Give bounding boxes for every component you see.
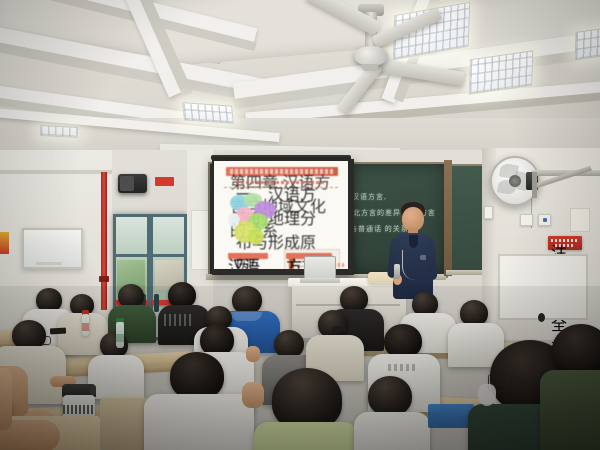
student-head — [272, 368, 342, 430]
student-head — [552, 324, 600, 376]
student-torso — [88, 355, 144, 399]
fluorescent-panel-3 — [575, 28, 600, 61]
fan-hub-cap — [362, 64, 378, 71]
student-hand — [242, 382, 264, 408]
fan-motor-hub — [354, 46, 388, 66]
outlet-indicator — [543, 218, 547, 222]
chalk-text-line-1: 汉语方言, — [352, 192, 387, 202]
slide-left-caption: 汉语方言分布图 — [228, 253, 268, 259]
blackboard-right-panel — [448, 164, 486, 274]
door-rail — [113, 254, 187, 257]
phone[interactable] — [50, 328, 66, 335]
wall-poster — [0, 232, 9, 254]
student-torso — [254, 422, 358, 450]
bottle-label — [82, 323, 89, 331]
speaker-cone — [120, 176, 134, 191]
slide-subtitle-text: 一、汉语方言的地理分布与形成原因 — [236, 181, 324, 184]
warning-sign-text: 注意安全 禁止攀爬 — [551, 239, 579, 242]
blackboard-frame-post — [444, 160, 452, 276]
china-dialect-map — [226, 193, 280, 249]
bottle-label — [116, 334, 124, 342]
power-outlet-1[interactable] — [484, 206, 493, 219]
whiteboard-marker-tray — [36, 262, 62, 265]
bottle-body — [116, 322, 124, 348]
notice-panel-small — [570, 208, 590, 232]
small-whiteboard — [22, 228, 83, 269]
student-torso — [354, 412, 430, 450]
fan-bracket-post — [532, 172, 537, 198]
power-outlet-2[interactable] — [520, 214, 533, 226]
exit-sign — [155, 177, 174, 186]
microphone[interactable] — [394, 264, 400, 279]
presentation-slide: 第四章 汉语方言与地域文化的关系 一、汉语方言的地理分布与形成原因 — [214, 161, 348, 269]
shirt-graphic — [388, 364, 418, 371]
slide-title-text: 第四章 汉语方言与地域文化的关系 — [230, 169, 334, 174]
fluorescent-panel-5 — [40, 125, 79, 138]
student-arm — [0, 368, 12, 430]
student-head — [274, 330, 304, 358]
student-head — [384, 324, 422, 358]
student-torso — [144, 394, 254, 450]
slide-title-bar: 第四章 汉语方言与地域文化的关系 — [226, 167, 338, 176]
seated-students — [0, 280, 600, 450]
student-hand — [246, 346, 260, 362]
student-head — [318, 310, 348, 338]
warning-sign-subtext — [555, 244, 575, 247]
eyeglasses — [38, 336, 51, 345]
shirt-graphic — [164, 314, 194, 326]
fluorescent-panel-4 — [182, 102, 234, 124]
polo-collar — [409, 235, 418, 248]
student-head — [232, 286, 262, 314]
chalk-tray — [446, 270, 484, 275]
student-torso — [540, 370, 600, 450]
power-outlet-3[interactable] — [538, 214, 551, 226]
bottle-graphic — [63, 405, 95, 414]
slide-subtitle: 一、汉语方言的地理分布与形成原因 — [224, 180, 338, 188]
hoodie-collar — [230, 312, 262, 321]
wall-fan-hub — [509, 175, 521, 187]
warning-sign: 注意安全 禁止攀爬 — [548, 236, 582, 250]
wall-trim — [0, 170, 112, 174]
screen-surface: 第四章 汉语方言与地域文化的关系 一、汉语方言的地理分布与形成原因 — [214, 161, 348, 269]
face-mask — [478, 384, 496, 406]
student-head — [368, 376, 412, 416]
classroom-photo: 汉语方言, 南北方言的差异 汉语方言 与普通话 的关系 第四章 汉语方言与地域文… — [0, 0, 600, 450]
bottle-body — [82, 314, 89, 336]
student-head — [170, 352, 224, 400]
